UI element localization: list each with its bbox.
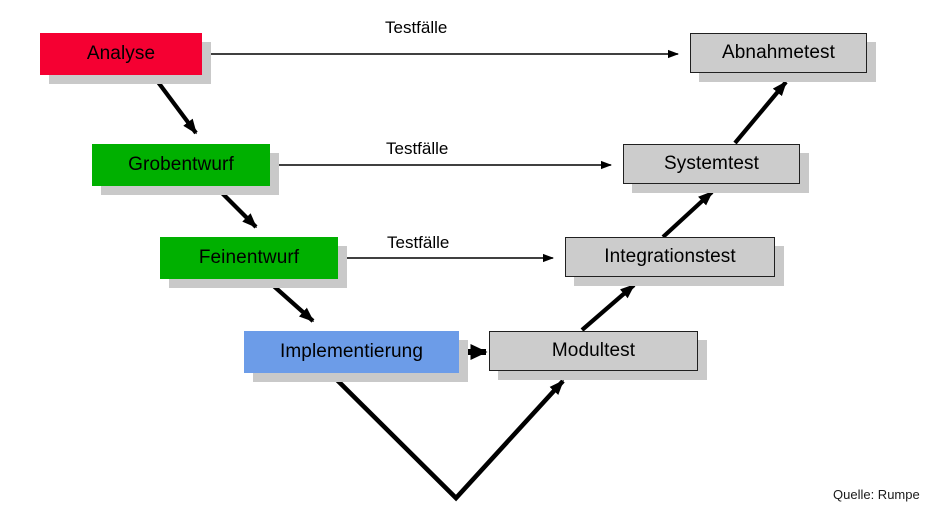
edge-integrationstest-to-systemtest <box>663 192 712 237</box>
node-feinentwurf[interactable]: Feinentwurf <box>160 237 338 279</box>
node-analyse[interactable]: Analyse <box>40 33 202 75</box>
node-label: Systemtest <box>664 154 759 174</box>
edge-label-testfaelle-acceptance: Testfälle <box>385 18 447 38</box>
node-label: Grobentwurf <box>128 155 234 175</box>
edge-modultest-to-integrationstest <box>582 285 634 330</box>
node-label: Feinentwurf <box>199 248 299 268</box>
edge-implementierung-to-v-vertex <box>331 374 563 498</box>
node-abnahmetest[interactable]: Abnahmetest <box>690 33 867 73</box>
node-label: Analyse <box>87 44 155 64</box>
node-label: Abnahmetest <box>722 43 835 63</box>
edge-systemtest-to-abnahmetest <box>735 82 786 143</box>
node-integrationstest[interactable]: Integrationstest <box>565 237 775 277</box>
node-label: Integrationstest <box>604 247 736 267</box>
node-systemtest[interactable]: Systemtest <box>623 144 800 184</box>
source-note: Quelle: Rumpe <box>833 487 920 502</box>
node-grobentwurf[interactable]: Grobentwurf <box>92 144 270 186</box>
v-model-diagram: Analyse Grobentwurf Feinentwurf Implemen… <box>0 0 951 517</box>
edge-analyse-to-grobentwurf <box>155 78 196 133</box>
edge-label-testfaelle-system: Testfälle <box>386 139 448 159</box>
node-label: Modultest <box>552 341 635 361</box>
node-implementierung[interactable]: Implementierung <box>244 331 459 373</box>
node-modultest[interactable]: Modultest <box>489 331 698 371</box>
edge-label-testfaelle-integration: Testfälle <box>387 233 449 253</box>
node-label: Implementierung <box>280 342 423 362</box>
